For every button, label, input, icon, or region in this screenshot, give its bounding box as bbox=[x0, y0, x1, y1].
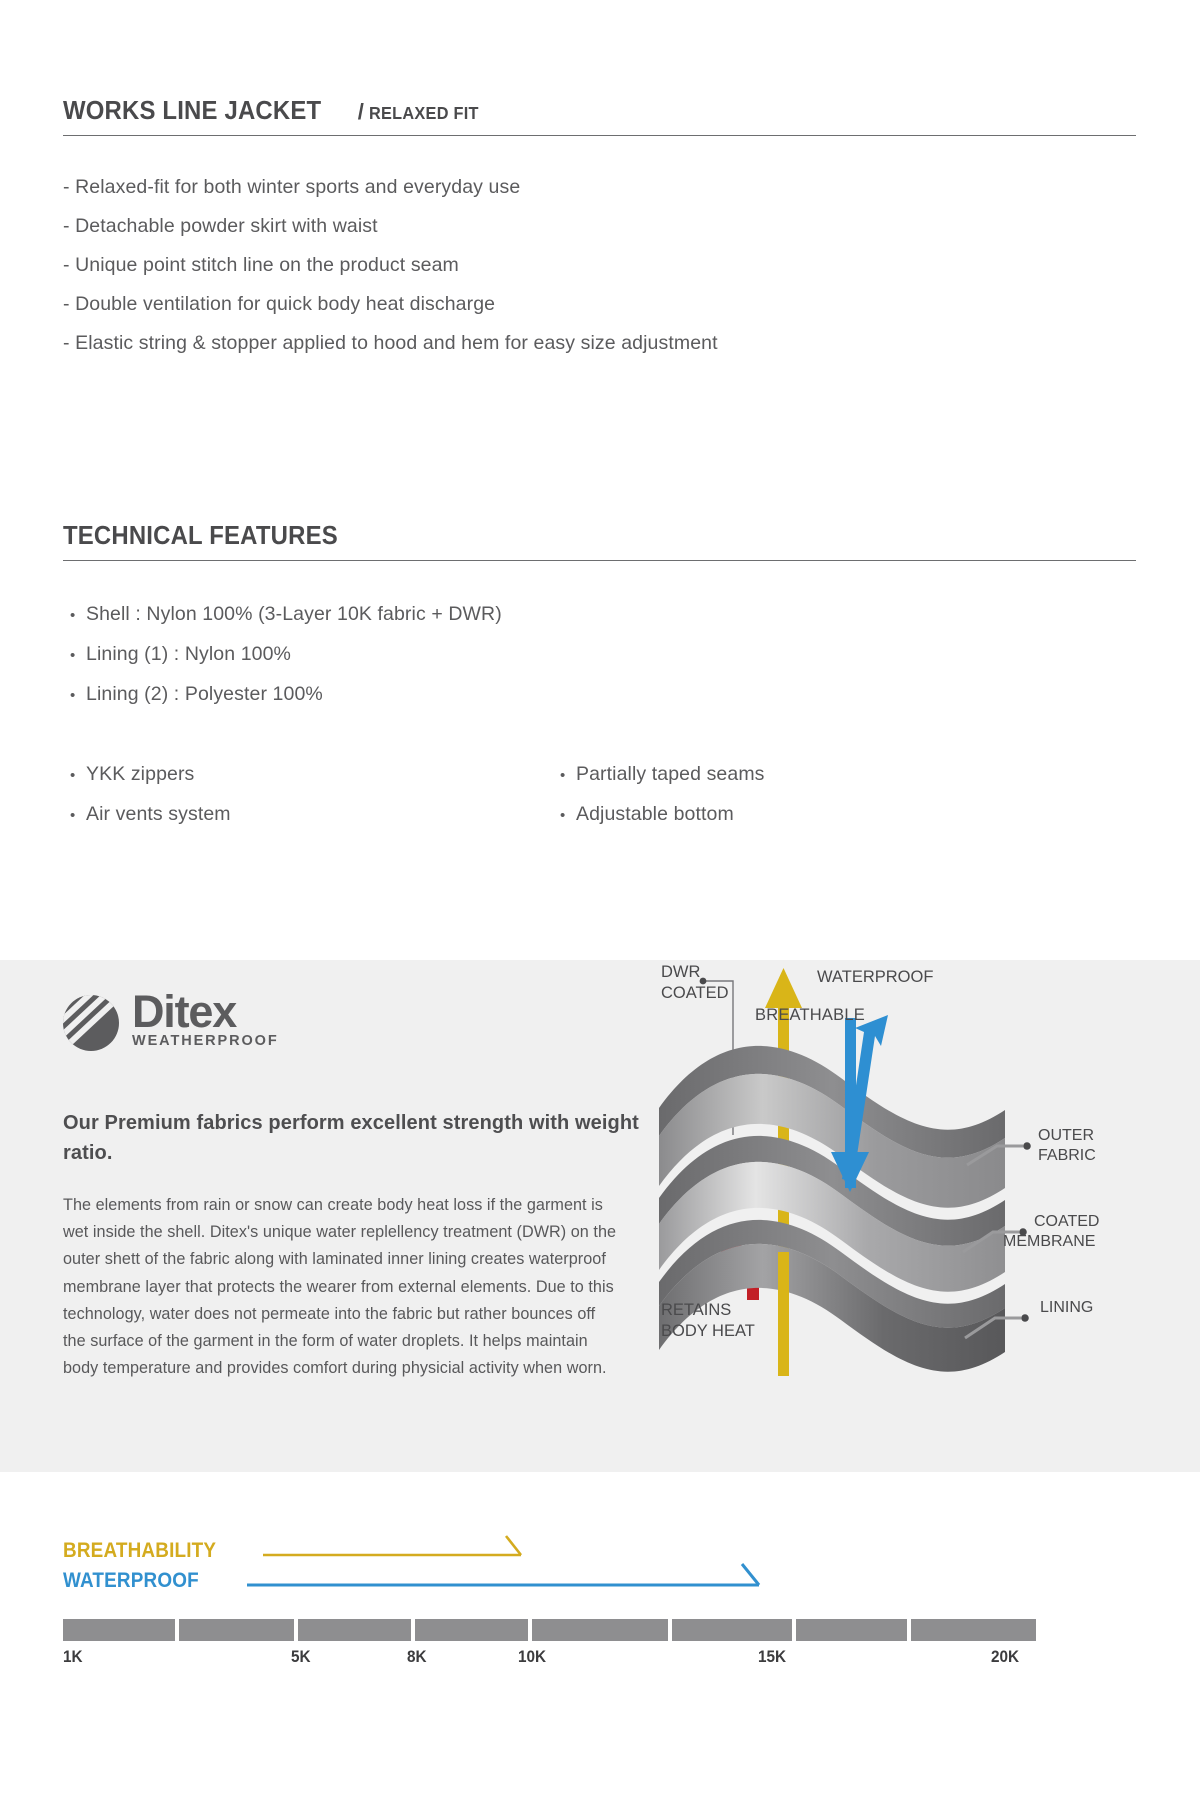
scale-segment bbox=[796, 1619, 907, 1641]
label-membrane-line2: MEMBRANE bbox=[1003, 1233, 1095, 1250]
list-item: •Lining (2) : Polyester 100% bbox=[70, 675, 502, 715]
bullet-icon: • bbox=[70, 676, 86, 715]
product-title-row: WORKS LINE JACKET / RELAXED FIT bbox=[63, 95, 1136, 136]
label-outer-line1: OUTER bbox=[1038, 1127, 1094, 1144]
brand-panel: Ditex WEATHERPROOF Our Premium fabrics p… bbox=[0, 960, 1200, 1472]
scale-segment bbox=[415, 1619, 528, 1641]
technical-column-right: •Partially taped seams •Adjustable botto… bbox=[560, 755, 1050, 835]
list-item: •Adjustable bottom bbox=[560, 795, 1050, 835]
list-item-label: Lining (1) : Nylon 100% bbox=[86, 643, 291, 665]
bullet-icon: • bbox=[70, 596, 86, 635]
bullet-icon: • bbox=[70, 756, 86, 795]
breathability-arrow-icon bbox=[263, 1536, 521, 1555]
bullet-icon: • bbox=[70, 636, 86, 675]
label-waterproof: WATERPROOF bbox=[817, 968, 933, 986]
brand-name: Ditex bbox=[132, 990, 279, 1033]
list-item-label: Adjustable bottom bbox=[576, 803, 734, 825]
label-lining: LINING bbox=[1040, 1299, 1093, 1316]
list-item: - Elastic string & stopper applied to ho… bbox=[63, 324, 718, 363]
scale-segment bbox=[63, 1619, 175, 1641]
label-dwr-line2: COATED bbox=[661, 984, 729, 1002]
bullet-icon: • bbox=[70, 796, 86, 835]
list-item-label: YKK zippers bbox=[86, 763, 194, 785]
list-item-label: Lining (2) : Polyester 100% bbox=[86, 683, 323, 705]
product-overview-section: WORKS LINE JACKET / RELAXED FIT - Relaxe… bbox=[0, 0, 1200, 960]
technical-column-left: •YKK zippers •Air vents system bbox=[70, 755, 560, 835]
product-title-block: WORKS LINE JACKET / RELAXED FIT bbox=[63, 95, 1136, 136]
scale-arrows bbox=[0, 1472, 1200, 1617]
label-outer-line2: FABRIC bbox=[1038, 1147, 1096, 1164]
brand-headline: Our Premium fabrics perform excellent st… bbox=[63, 1108, 643, 1168]
breathable-arrow-shaft bbox=[778, 1252, 789, 1376]
ditex-logo-icon bbox=[63, 995, 119, 1051]
brand-logo: Ditex WEATHERPROOF bbox=[63, 990, 279, 1051]
bullet-icon: • bbox=[560, 756, 576, 795]
label-dwr-line1: DWR bbox=[661, 963, 700, 981]
tick-label: 5K bbox=[291, 1647, 311, 1667]
bullet-icon: • bbox=[560, 796, 576, 835]
technical-features-title-row: TECHNICAL FEATURES bbox=[63, 520, 1136, 561]
tick-label: 8K bbox=[407, 1647, 427, 1667]
technical-feature-columns: •YKK zippers •Air vents system •Partiall… bbox=[70, 755, 1070, 835]
scale-segment bbox=[532, 1619, 668, 1641]
section-title-technical: TECHNICAL FEATURES bbox=[63, 520, 338, 551]
product-fit-label: RELAXED FIT bbox=[369, 103, 479, 124]
product-feature-list: - Relaxed-fit for both winter sports and… bbox=[63, 168, 718, 363]
label-retains-line2: BODY HEAT bbox=[661, 1322, 755, 1340]
technical-materials-list: •Shell : Nylon 100% (3-Layer 10K fabric … bbox=[70, 595, 502, 715]
fabric-diagram-svg: BREATHABLE DWR COATED WATERPROOF OUTER F… bbox=[645, 960, 1200, 1472]
scale-segment bbox=[911, 1619, 1036, 1641]
technical-features-title-block: TECHNICAL FEATURES bbox=[63, 520, 1136, 561]
list-item-label: Shell : Nylon 100% (3-Layer 10K fabric +… bbox=[86, 603, 502, 625]
product-spec-page: WORKS LINE JACKET / RELAXED FIT - Relaxe… bbox=[0, 0, 1200, 1800]
list-item: •YKK zippers bbox=[70, 755, 560, 795]
label-membrane-line1: COATED bbox=[1034, 1213, 1099, 1230]
list-item: - Detachable powder skirt with waist bbox=[63, 207, 718, 246]
tick-label: 1K bbox=[63, 1647, 83, 1667]
label-breathable-top: BREATHABLE bbox=[755, 1006, 865, 1025]
label-retains-line1: RETAINS bbox=[661, 1301, 731, 1319]
brand-tagline: WEATHERPROOF bbox=[132, 1033, 279, 1050]
list-item: •Lining (1) : Nylon 100% bbox=[70, 635, 502, 675]
list-item: •Shell : Nylon 100% (3-Layer 10K fabric … bbox=[70, 595, 502, 635]
brand-logo-text: Ditex WEATHERPROOF bbox=[132, 990, 279, 1050]
list-item: - Double ventilation for quick body heat… bbox=[63, 285, 718, 324]
waterproof-arrow-icon bbox=[247, 1564, 759, 1585]
list-item: •Partially taped seams bbox=[560, 755, 1050, 795]
scale-segment bbox=[672, 1619, 792, 1641]
tick-label: 20K bbox=[991, 1647, 1019, 1667]
list-item: - Unique point stitch line on the produc… bbox=[63, 246, 718, 285]
title-separator: / bbox=[358, 99, 364, 125]
tick-label: 15K bbox=[758, 1647, 786, 1667]
page-title: WORKS LINE JACKET bbox=[63, 95, 321, 126]
tick-label: 10K bbox=[518, 1647, 546, 1667]
list-item-label: Partially taped seams bbox=[576, 763, 765, 785]
list-item: - Relaxed-fit for both winter sports and… bbox=[63, 168, 718, 207]
fabric-layer-diagram: BREATHABLE DWR COATED WATERPROOF OUTER F… bbox=[645, 960, 1200, 1472]
list-item: •Air vents system bbox=[70, 795, 560, 835]
list-item-label: Air vents system bbox=[86, 803, 231, 825]
performance-scale-section: BREATHABILITY WATERPROOF 1K 5K bbox=[0, 1472, 1200, 1800]
scale-segment bbox=[298, 1619, 411, 1641]
brand-body-text: The elements from rain or snow can creat… bbox=[63, 1192, 619, 1382]
scale-segment bbox=[179, 1619, 294, 1641]
